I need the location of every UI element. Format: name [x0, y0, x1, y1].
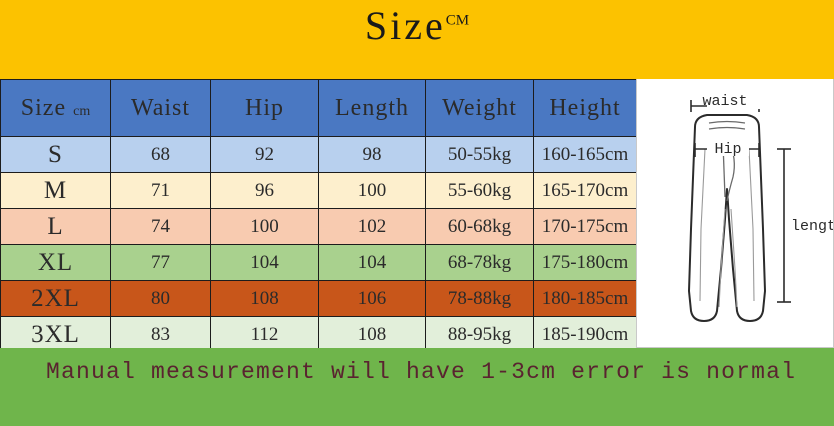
size-chart-page: SizeCM Size cm Waist Hip Length Weight H…	[0, 0, 834, 426]
waist-label: waist	[702, 93, 747, 110]
cell-hip: 108	[211, 281, 319, 317]
column-header-size-unit: cm	[73, 104, 90, 119]
cell-length: 104	[319, 245, 426, 281]
cell-hip: 92	[211, 137, 319, 173]
cell-hip: 96	[211, 173, 319, 209]
length-label: length	[791, 218, 833, 235]
cell-length: 100	[319, 173, 426, 209]
cell-height: 170-175cm	[534, 209, 637, 245]
column-header-length: Length	[319, 80, 426, 137]
cell-height: 160-165cm	[534, 137, 637, 173]
cell-size: S	[1, 137, 111, 173]
cell-waist: 80	[111, 281, 211, 317]
cell-size: M	[1, 173, 111, 209]
cell-length: 98	[319, 137, 426, 173]
table-row: S 68 92 98 50-55kg 160-165cm	[1, 137, 637, 173]
table-row: L 74 100 102 60-68kg 170-175cm	[1, 209, 637, 245]
cell-hip: 100	[211, 209, 319, 245]
title-band: SizeCM	[0, 0, 834, 79]
cell-weight: 60-68kg	[426, 209, 534, 245]
cell-weight: 50-55kg	[426, 137, 534, 173]
cell-weight: 78-88kg	[426, 281, 534, 317]
cell-length: 106	[319, 281, 426, 317]
hip-label: Hip	[714, 141, 741, 158]
measurement-note: Manual measurement will have 1-3cm error…	[46, 359, 796, 385]
cell-height: 180-185cm	[534, 281, 637, 317]
table-row: M 71 96 100 55-60kg 165-170cm	[1, 173, 637, 209]
column-header-size-label: Size	[21, 95, 66, 121]
cell-waist: 71	[111, 173, 211, 209]
table-header-row: Size cm Waist Hip Length Weight Height	[1, 80, 637, 137]
table-row: XL 77 104 104 68-78kg 175-180cm	[1, 245, 637, 281]
length-dimension-arrow	[777, 149, 791, 302]
measurement-diagram-panel: waist	[636, 79, 834, 348]
column-header-height: Height	[534, 80, 637, 137]
cell-waist: 68	[111, 137, 211, 173]
page-title: SizeCM	[0, 2, 834, 49]
cell-size: XL	[1, 245, 111, 281]
column-header-waist: Waist	[111, 80, 211, 137]
column-header-weight: Weight	[426, 80, 534, 137]
cell-length: 102	[319, 209, 426, 245]
cell-size: 2XL	[1, 281, 111, 317]
size-table: Size cm Waist Hip Length Weight Height S…	[0, 79, 637, 353]
cell-waist: 74	[111, 209, 211, 245]
cell-weight: 68-78kg	[426, 245, 534, 281]
cell-height: 175-180cm	[534, 245, 637, 281]
title-unit-superscript: CM	[446, 13, 469, 29]
cell-height: 165-170cm	[534, 173, 637, 209]
table-row: 2XL 80 108 106 78-88kg 180-185cm	[1, 281, 637, 317]
pants-diagram: waist	[637, 79, 833, 346]
cell-hip: 104	[211, 245, 319, 281]
column-header-hip: Hip	[211, 80, 319, 137]
footer-band: Manual measurement will have 1-3cm error…	[0, 348, 834, 426]
cell-waist: 77	[111, 245, 211, 281]
cell-size: L	[1, 209, 111, 245]
page-title-text: Size	[365, 3, 446, 48]
cell-weight: 55-60kg	[426, 173, 534, 209]
column-header-size: Size cm	[1, 80, 111, 137]
